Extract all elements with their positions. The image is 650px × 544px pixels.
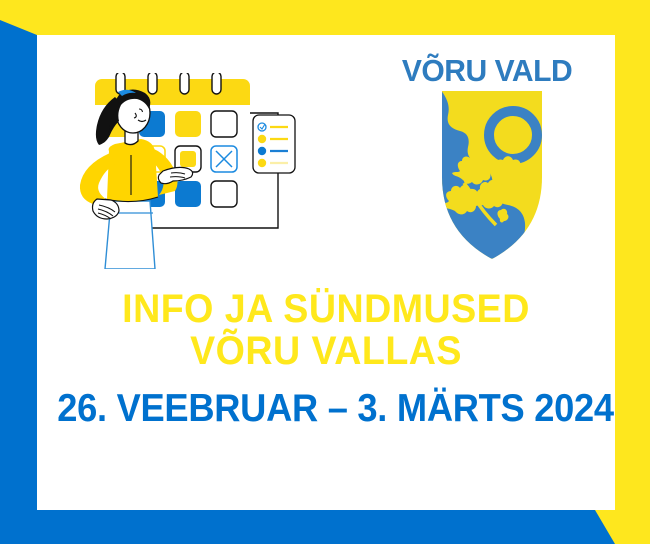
poster-content: VÕRU VALD [37, 35, 615, 510]
headline-line-2: VÕRU VALLAS [54, 330, 597, 372]
crest-logo-text: VÕRU VALD [402, 52, 572, 89]
headline-line-1: INFO JA SÜNDMUSED [54, 288, 597, 330]
poster-root: VÕRU VALD [0, 0, 650, 544]
date-range: 26. VEEBRUAR – 3. MÄRTS 2024 [57, 386, 595, 432]
checklist-card [253, 115, 295, 173]
calendar-illustration [75, 73, 305, 269]
hand-on-hip [93, 199, 120, 219]
headline-block: INFO JA SÜNDMUSED VÕRU VALLAS 26. VEEBRU… [37, 288, 615, 432]
voru-vald-crest: VÕRU VALD [392, 47, 582, 262]
illustration-row: VÕRU VALD [37, 35, 615, 280]
